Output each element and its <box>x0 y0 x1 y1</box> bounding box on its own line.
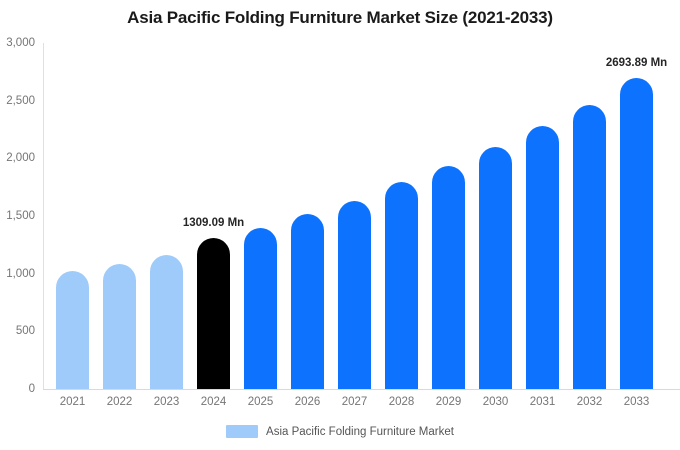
bar-2029[interactable] <box>432 166 465 389</box>
y-axis-tick-label: 500 <box>16 325 44 337</box>
y-axis-tick-label: 3,000 <box>6 37 44 49</box>
x-axis-tick-label-2022: 2022 <box>96 396 143 408</box>
bar-slot <box>143 43 190 389</box>
y-axis-tick-label: 1,000 <box>6 268 44 280</box>
x-axis-tick-label-2028: 2028 <box>378 396 425 408</box>
x-axis-tick-label-2033: 2033 <box>613 396 660 408</box>
bar-value-label-2033: 2693.89 Mn <box>606 57 667 69</box>
y-axis-tick-label: 2,000 <box>6 152 44 164</box>
legend-swatch-asia-pacific-folding-furniture-market <box>226 425 258 438</box>
x-axis-tick-label-2024: 2024 <box>190 396 237 408</box>
x-axis-line <box>43 389 680 390</box>
bar-2027[interactable] <box>338 201 371 389</box>
x-axis-tick-label-2030: 2030 <box>472 396 519 408</box>
chart-legend: Asia Pacific Folding Furniture Market <box>0 425 680 438</box>
bar-2022[interactable] <box>103 264 136 389</box>
bar-2030[interactable] <box>479 147 512 389</box>
bar-2031[interactable] <box>526 126 559 389</box>
x-axis-tick-label-2023: 2023 <box>143 396 190 408</box>
y-axis-tick-label: 0 <box>29 383 44 395</box>
x-axis-tick-label-2026: 2026 <box>284 396 331 408</box>
x-axis-tick-label-2021: 2021 <box>49 396 96 408</box>
bar-slot <box>613 43 660 389</box>
bar-2028[interactable] <box>385 182 418 389</box>
y-axis-tick-label: 2,500 <box>6 95 44 107</box>
bar-2024[interactable] <box>197 238 230 389</box>
bar-2026[interactable] <box>291 214 324 389</box>
x-axis-tick-label-2027: 2027 <box>331 396 378 408</box>
x-axis-tick-label-2032: 2032 <box>566 396 613 408</box>
bar-slot <box>49 43 96 389</box>
bar-series: 1309.09 Mn2693.89 Mn <box>44 43 680 389</box>
bar-slot <box>284 43 331 389</box>
bar-slot <box>519 43 566 389</box>
chart-container: Asia Pacific Folding Furniture Market Si… <box>0 0 680 450</box>
bar-2023[interactable] <box>150 255 183 389</box>
bar-slot <box>425 43 472 389</box>
x-axis-tick-label-2029: 2029 <box>425 396 472 408</box>
chart-title: Asia Pacific Folding Furniture Market Si… <box>0 8 680 28</box>
bar-2032[interactable] <box>573 105 606 389</box>
bar-2025[interactable] <box>244 228 277 389</box>
bar-slot <box>237 43 284 389</box>
bar-2021[interactable] <box>56 271 89 389</box>
x-axis-tick-label-2025: 2025 <box>237 396 284 408</box>
bar-slot <box>96 43 143 389</box>
bar-slot <box>566 43 613 389</box>
plot-area: 05001,0001,5002,0002,5003,000 1309.09 Mn… <box>44 43 680 389</box>
legend-label-asia-pacific-folding-furniture-market: Asia Pacific Folding Furniture Market <box>266 426 454 438</box>
bar-slot <box>331 43 378 389</box>
bar-slot <box>472 43 519 389</box>
bar-slot <box>378 43 425 389</box>
y-axis-tick-label: 1,500 <box>6 210 44 222</box>
bar-slot <box>190 43 237 389</box>
x-axis-tick-label-2031: 2031 <box>519 396 566 408</box>
bar-value-label-2024: 1309.09 Mn <box>183 217 244 229</box>
bar-2033[interactable] <box>620 78 653 389</box>
